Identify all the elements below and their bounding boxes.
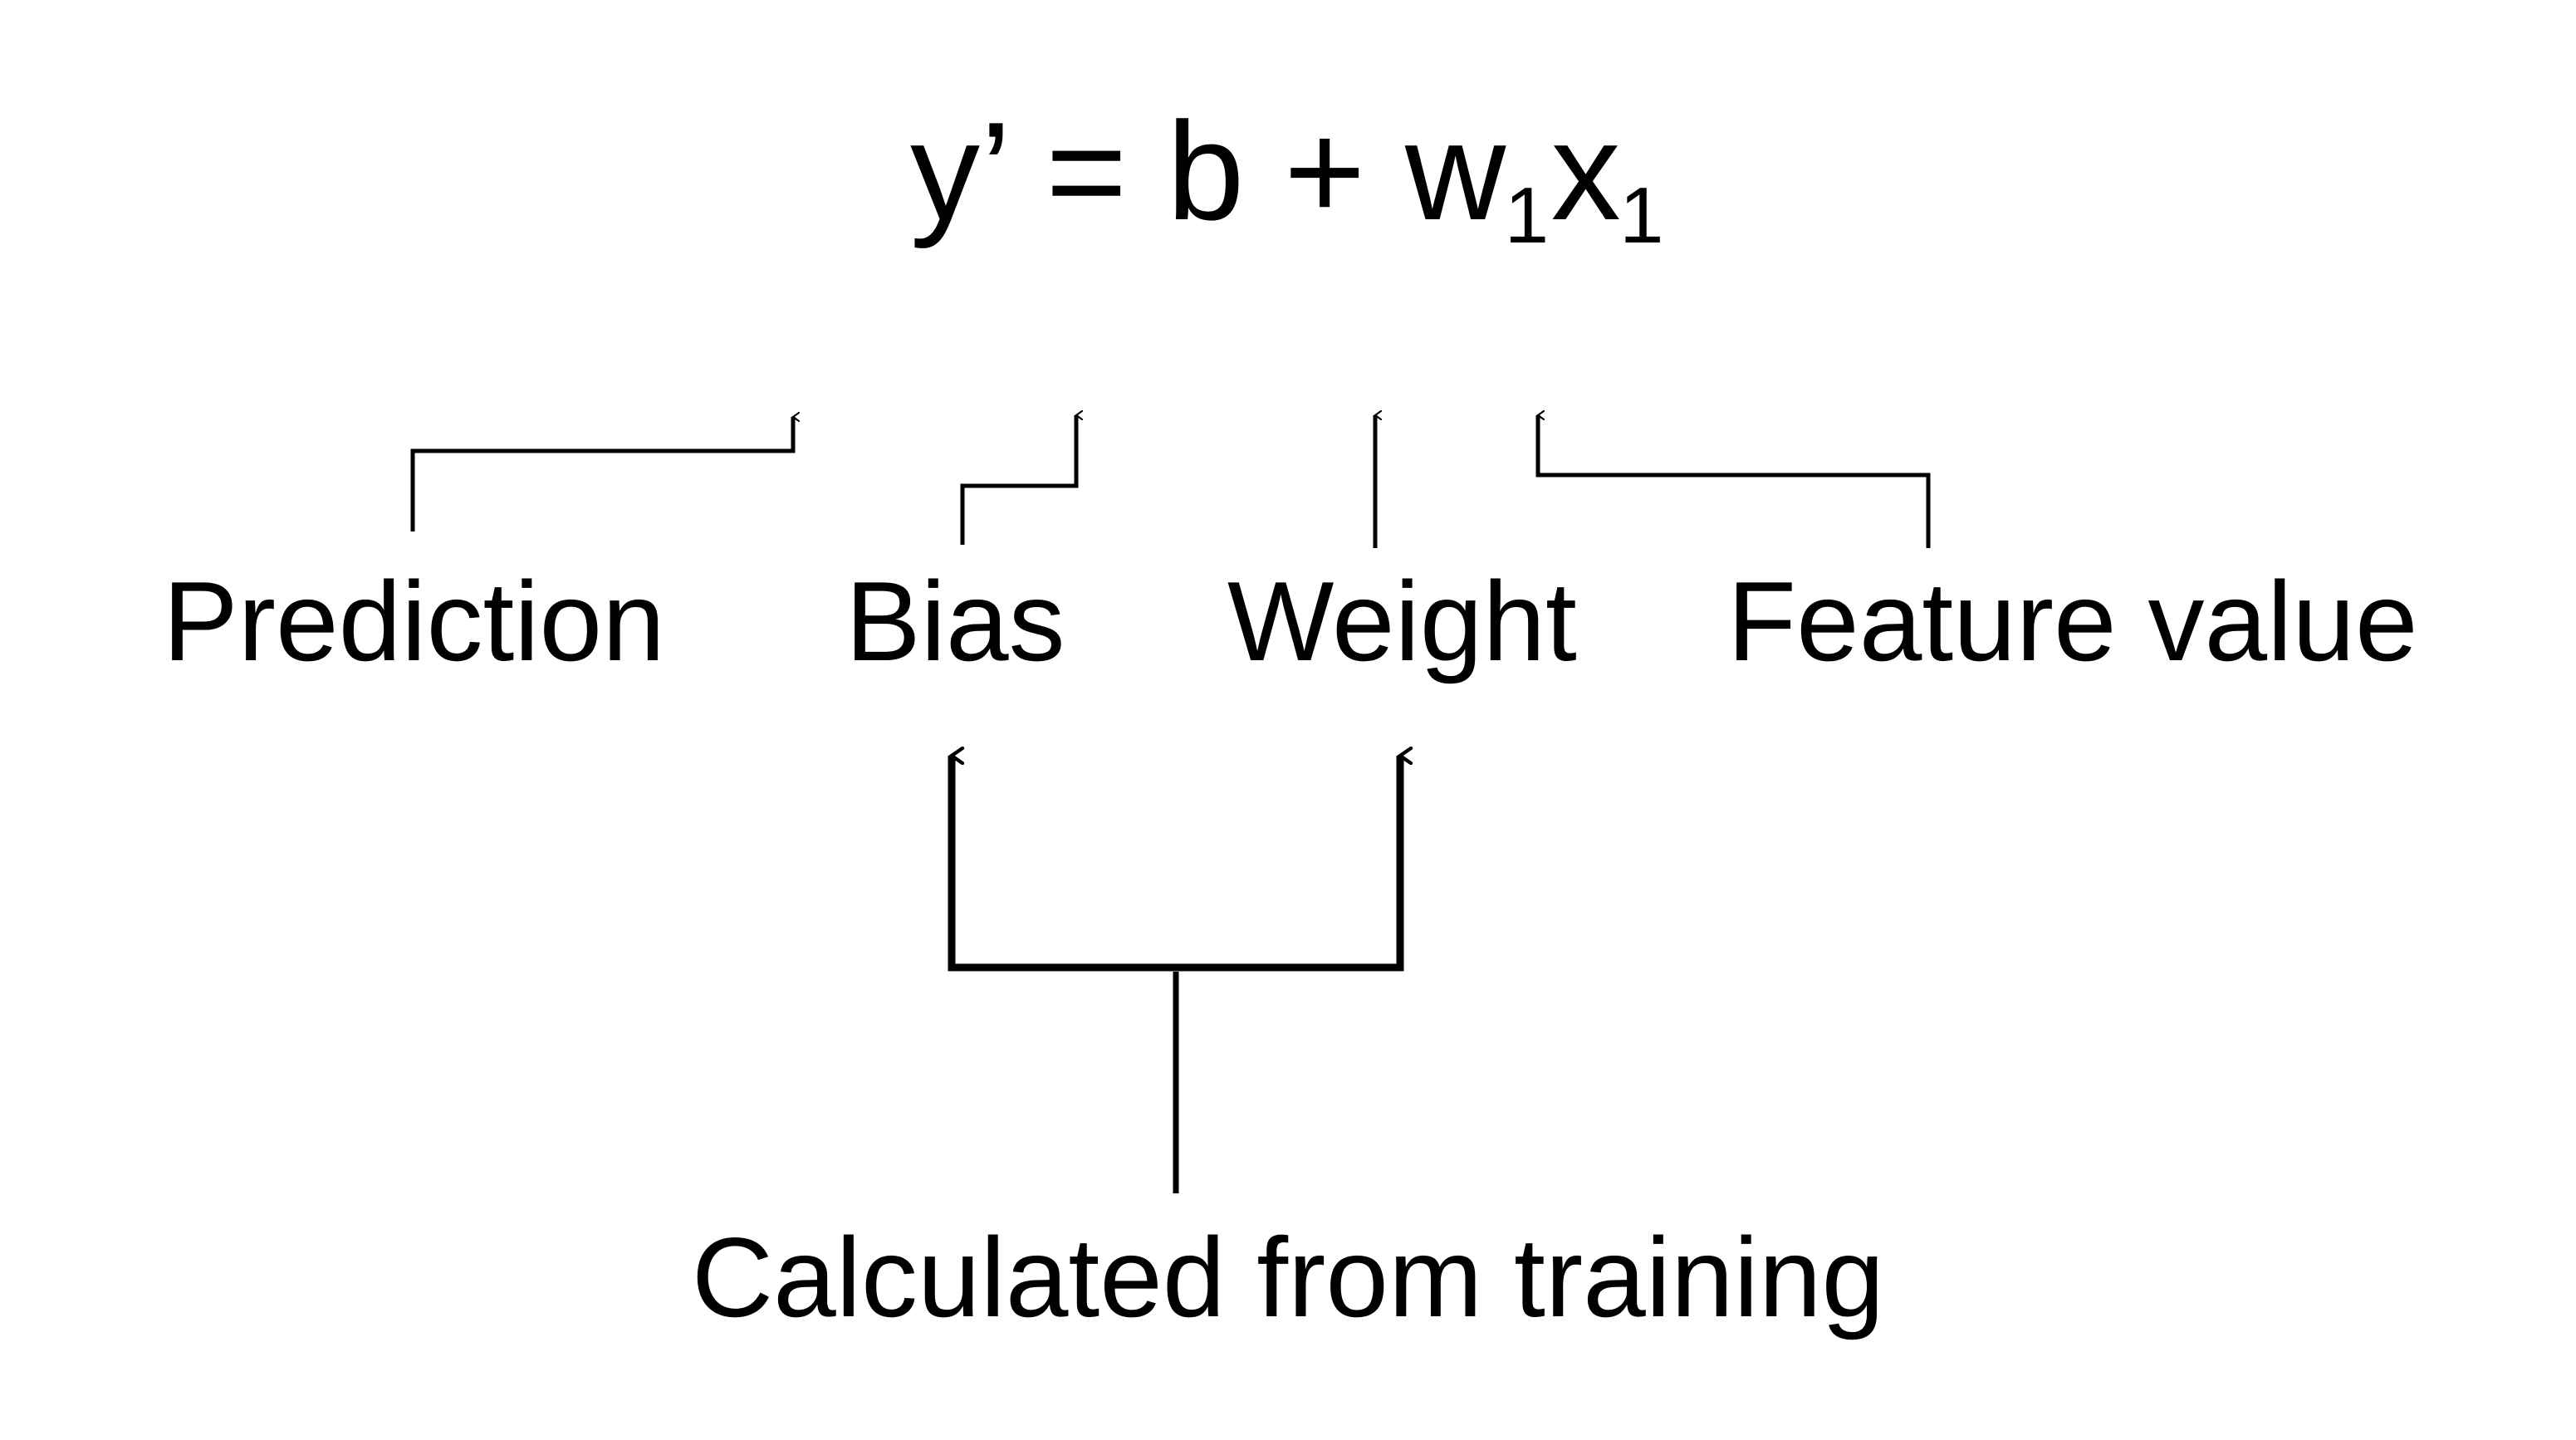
bias-connector-path bbox=[962, 415, 1076, 545]
training-bracket-path bbox=[952, 756, 1400, 967]
feature-value-connector-path bbox=[1538, 415, 1928, 548]
label-weight: Weight bbox=[1227, 565, 1577, 678]
prediction-connector-path bbox=[413, 417, 793, 531]
diagram-canvas: y’ = b + w1x1 Prediction Bias Weight Fea… bbox=[0, 0, 2576, 1440]
label-calculated-from-training: Calculated from training bbox=[0, 1221, 2576, 1334]
label-prediction: Prediction bbox=[163, 565, 665, 678]
label-bias: Bias bbox=[845, 565, 1065, 678]
label-feature-value: Feature value bbox=[1727, 565, 2418, 678]
